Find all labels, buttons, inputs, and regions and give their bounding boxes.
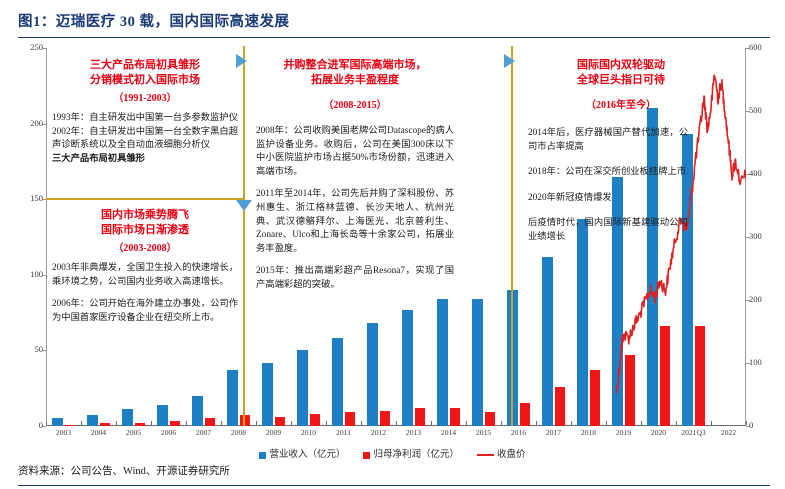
x-tick <box>116 421 117 425</box>
y-tick-label-left: 100 <box>3 269 43 279</box>
legend-line-marker <box>477 454 494 456</box>
x-tick-label: 2017 <box>546 428 561 437</box>
x-tick-label: 2012 <box>371 428 386 437</box>
panel-2-para-2: 2006年：公司开始在海外建立办事处，公司作为中国首家医疗设备企业在纽交所上市。 <box>52 298 238 325</box>
legend-label: 归母净利润（亿元） <box>373 450 459 460</box>
x-tick-label: 2005 <box>126 428 141 437</box>
y-tick-label-left: 200 <box>3 118 43 128</box>
x-tick-label: 2014 <box>441 428 456 437</box>
panel-4-heading-line1: 国际国内双轮驱动 <box>528 58 714 73</box>
y-tick-label-left: 50 <box>3 344 43 354</box>
divider-horizontal-1 <box>46 198 244 200</box>
x-tick-label: 2011 <box>336 428 351 437</box>
x-tick-label: 2019 <box>616 428 631 437</box>
panel-4-body: 2014年后，医疗器械国产替代加速，公司市占率提高 2018年：公司在深交所创业… <box>528 127 688 245</box>
annotation-panel-2: 国内市场乘势腾飞 国际市场日渐渗透 （2003-2008） 2003年非典爆发，… <box>52 208 238 325</box>
panel-1-heading-line2: 分销模式初入国际市场 <box>52 73 238 88</box>
y-tick-label-left: 150 <box>3 193 43 203</box>
x-tick <box>361 421 362 425</box>
panel-1-para-3: 三大产品布局初具雏形 <box>52 153 238 167</box>
y-tick-label-right: 600 <box>749 42 785 52</box>
panel-3-heading-line2: 拓展业务丰盈程度 <box>256 73 454 88</box>
legend-item: 收盘价 <box>477 446 526 460</box>
x-tick-label: 2004 <box>91 428 106 437</box>
x-tick <box>641 421 642 425</box>
x-tick <box>291 421 292 425</box>
x-tick-label: 2008 <box>231 428 246 437</box>
panel-3-para-1: 2008年：公司收购美国老牌公司Datascope的病人监护设备业务。收购后，公… <box>256 125 454 179</box>
panel-2-para-1: 2003年非典爆发，全国卫生投入的快速增长，乘环境之势，公司国内业务收入高速增长… <box>52 262 238 289</box>
y-tick-label-right: 0 <box>749 420 785 430</box>
legend-label: 收盘价 <box>497 450 526 460</box>
x-tick <box>256 421 257 425</box>
chart-legend: 营业收入（亿元）归母净利润（亿元）收盘价 <box>0 444 785 460</box>
panel-3-para-2: 2011年至2014年，公司先后并购了深科股份、苏州惠生、浙江格林蓝德、长沙天地… <box>256 188 454 256</box>
panel-2-body: 2003年非典爆发，全国卫生投入的快速增长，乘环境之势，公司国内业务收入高速增长… <box>52 262 238 325</box>
marker-arrow-right-2 <box>504 54 515 68</box>
panel-3-date-range: （2008-2015） <box>256 98 454 113</box>
panel-1-date-range: （1991-2003） <box>52 91 238 106</box>
x-tick-label: 2003 <box>56 428 71 437</box>
panel-2-heading-line1: 国内市场乘势腾飞 <box>52 208 238 223</box>
x-tick <box>676 421 677 425</box>
x-tick <box>46 421 47 425</box>
divider-vertical-2 <box>511 46 513 426</box>
x-tick-label: 2010 <box>301 428 316 437</box>
x-tick <box>81 421 82 425</box>
x-tick-label: 2022 <box>721 428 736 437</box>
x-tick <box>151 421 152 425</box>
y-tick-label-right: 300 <box>749 231 785 241</box>
panel-4-para-3: 2020年新冠疫情爆发 <box>528 192 688 206</box>
panel-2-date-range: （2003-2008） <box>52 241 238 256</box>
source-note: 资料来源：公司公告、Wind、开源证券研究所 <box>18 462 770 482</box>
annotation-panel-3: 并购整合进军国际高端市场， 拓展业务丰盈程度 （2008-2015） 2008年… <box>256 58 454 293</box>
x-tick <box>431 421 432 425</box>
x-tick-label: 2006 <box>161 428 176 437</box>
x-tick <box>396 421 397 425</box>
x-tick <box>746 421 747 425</box>
x-tick-label: 2013 <box>406 428 421 437</box>
panel-1-para-1: 1993年：自主研发出中国第一台多参数监护仪 <box>52 112 238 126</box>
y-tick-label-right: 200 <box>749 294 785 304</box>
legend-label: 营业收入（亿元） <box>269 450 345 460</box>
y-tick-label-right: 400 <box>749 168 785 178</box>
panel-3-para-3: 2015年：推出高端彩超产品Resona7，实现了国产高端彩超的突破。 <box>256 265 454 292</box>
x-tick <box>186 421 187 425</box>
panel-4-para-2: 2018年：公司在深交所创业板挂牌上市 <box>528 166 688 180</box>
legend-item: 营业收入（亿元） <box>259 446 345 460</box>
x-tick <box>571 421 572 425</box>
panel-2-heading-line2: 国际市场日渐渗透 <box>52 223 238 238</box>
x-tick <box>711 421 712 425</box>
panel-1-heading-line1: 三大产品布局初具雏形 <box>52 58 238 73</box>
annotation-panel-1: 三大产品布局初具雏形 分销模式初入国际市场 （1991-2003） 1993年：… <box>52 58 238 166</box>
x-tick-label: 2021Q3 <box>681 428 705 437</box>
page-title: 图1：迈瑞医疗 30 载，国内国际高速发展 <box>18 10 770 34</box>
panel-1-body: 1993年：自主研发出中国第一台多参数监护仪 2002年：自主研发出中国第一台全… <box>52 112 238 166</box>
panel-1-para-2: 2002年：自主研发出中国第一台全数字黑白超声诊断系统以及全自动血液细胞分析仪 <box>52 126 238 153</box>
x-tick-label: 2009 <box>266 428 281 437</box>
x-tick-label: 2020 <box>651 428 666 437</box>
panel-4-para-4: 后疫情时代，国内国际新基建驱动公司业绩增长 <box>528 217 688 244</box>
x-tick-label: 2007 <box>196 428 211 437</box>
legend-square-marker <box>363 452 370 459</box>
x-tick-label: 2018 <box>581 428 596 437</box>
x-tick <box>466 421 467 425</box>
x-tick-label: 2015 <box>476 428 491 437</box>
x-axis-labels: 2003200420052006200720082009201020112012… <box>46 428 746 442</box>
title-bar: 图1：迈瑞医疗 30 载，国内国际高速发展 <box>18 10 770 38</box>
x-tick <box>501 421 502 425</box>
panel-4-date-range: （2016年至今） <box>528 98 714 113</box>
infographic-page: 图1：迈瑞医疗 30 载，国内国际高速发展 050100150200250 01… <box>0 0 785 489</box>
divider-vertical-1 <box>243 46 245 426</box>
y-tick-label-right: 500 <box>749 105 785 115</box>
y-tick-label-left: 0 <box>3 420 43 430</box>
legend-square-marker <box>259 452 266 459</box>
legend-item: 归母净利润（亿元） <box>363 446 459 460</box>
x-tick-label: 2016 <box>511 428 526 437</box>
panel-4-heading-line2: 全球巨头指日可待 <box>528 73 714 88</box>
y-tick-label-right: 100 <box>749 357 785 367</box>
x-tick <box>606 421 607 425</box>
x-tick <box>221 421 222 425</box>
y-tick-label-left: 250 <box>3 42 43 52</box>
panel-4-para-1: 2014年后，医疗器械国产替代加速，公司市占率提高 <box>528 127 688 154</box>
marker-arrow-down-1 <box>236 200 252 211</box>
x-axis-ticks <box>46 421 746 426</box>
x-tick <box>326 421 327 425</box>
annotation-panel-4: 国际国内双轮驱动 全球巨头指日可待 （2016年至今） 2014年后，医疗器械国… <box>528 58 714 245</box>
panel-3-heading-line1: 并购整合进军国际高端市场， <box>256 58 454 73</box>
x-tick <box>536 421 537 425</box>
panel-3-body: 2008年：公司收购美国老牌公司Datascope的病人监护设备业务。收购后，公… <box>256 125 454 293</box>
source-bar: 资料来源：公司公告、Wind、开源证券研究所 <box>18 462 770 486</box>
